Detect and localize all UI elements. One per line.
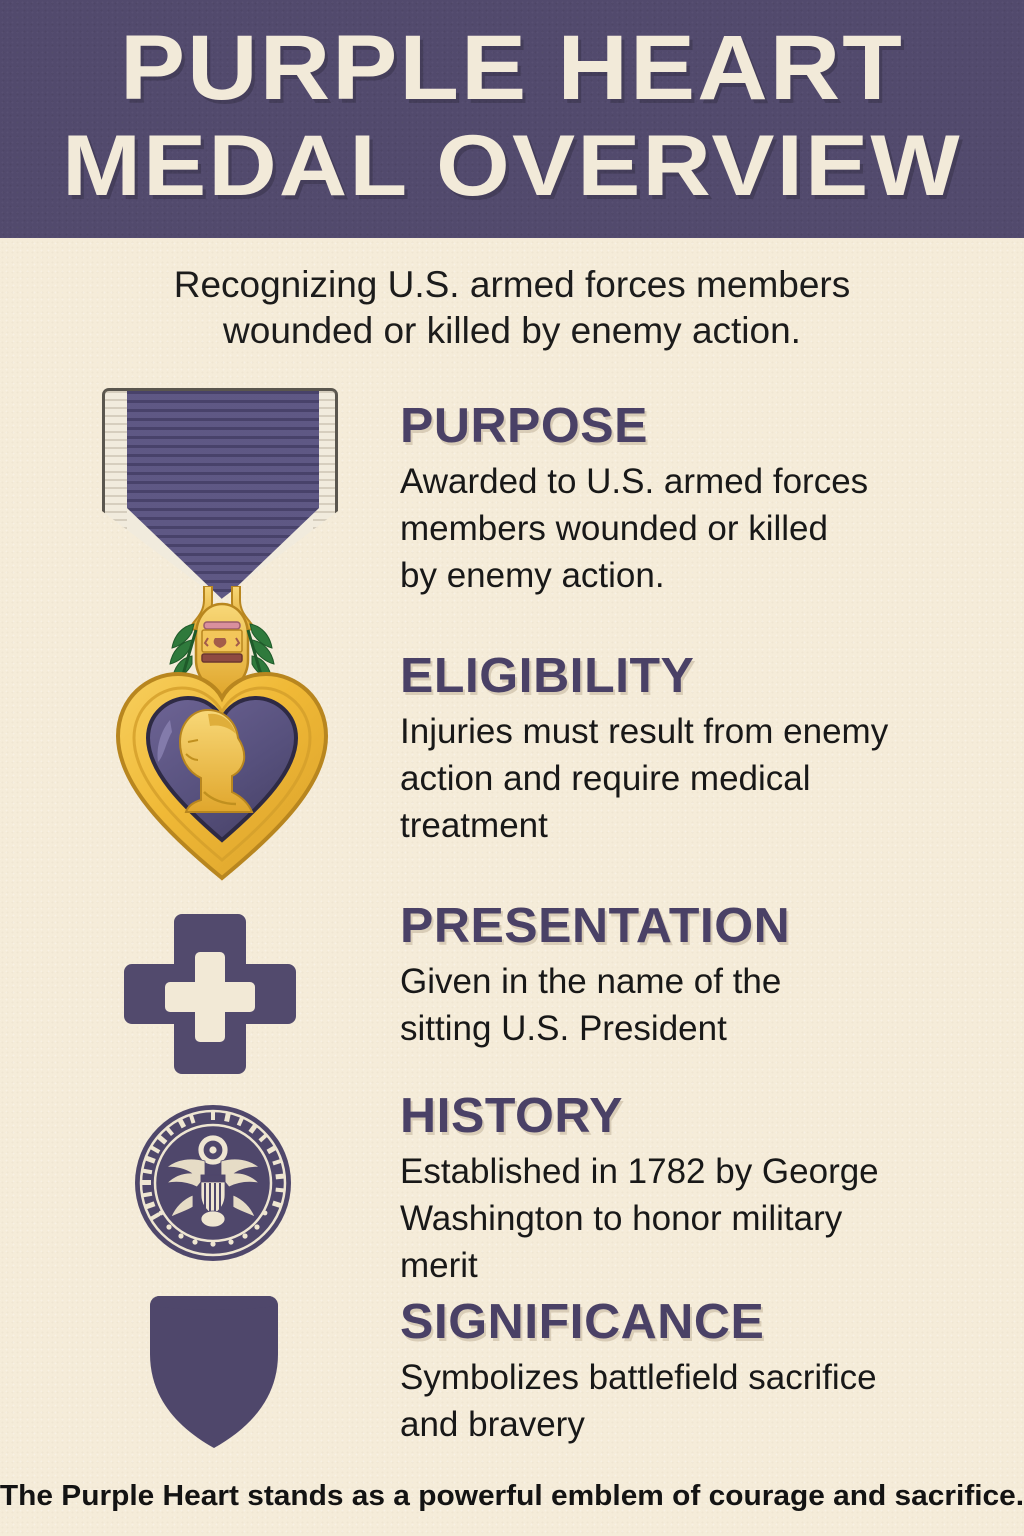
seal-svg [133, 1103, 293, 1263]
body-line: action and require medical [400, 755, 1000, 802]
cross-svg [120, 912, 300, 1082]
body-line: members wounded or killed [400, 505, 1000, 552]
section-body-history: Established in 1782 by George Washington… [400, 1148, 1000, 1289]
section-title-significance: SIGNIFICANCE [400, 1294, 1012, 1350]
section-title-presentation: PRESENTATION [400, 898, 1012, 954]
section-body-presentation: Given in the name of the sitting U.S. Pr… [400, 958, 1000, 1052]
body-line: Injuries must result from enemy [400, 708, 1000, 755]
section-title-purpose: PURPOSE [400, 398, 1012, 454]
purple-heart-ribbon-icon [102, 388, 338, 600]
section-body-eligibility: Injuries must result from enemy action a… [400, 708, 1000, 849]
ribbon-purple-field [127, 391, 319, 600]
section-body-significance: Symbolizes battlefield sacrifice and bra… [400, 1354, 1000, 1448]
body-line: sitting U.S. President [400, 1005, 1000, 1052]
body-line: and bravery [400, 1401, 1000, 1448]
body-line: Given in the name of the [400, 958, 1000, 1005]
section-eligibility: ELIGIBILITY Injuries must result from en… [400, 648, 1000, 849]
footer-tagline: The Purple Heart stands as a powerful em… [0, 1478, 1024, 1514]
body-line: Symbolizes battlefield sacrifice [400, 1354, 1000, 1401]
section-presentation: PRESENTATION Given in the name of the si… [400, 898, 1000, 1052]
body-line: treatment [400, 802, 1000, 849]
section-history: HISTORY Established in 1782 by George Wa… [400, 1088, 1000, 1289]
body-line: merit [400, 1242, 1000, 1289]
shield-svg [140, 1292, 288, 1452]
medical-cross-icon [120, 912, 300, 1082]
medal-svg [108, 586, 336, 886]
section-title-eligibility: ELIGIBILITY [400, 648, 1012, 704]
body-line: by enemy action. [400, 552, 1000, 599]
body-line: Awarded to U.S. armed forces [400, 458, 1000, 505]
body-line: Washington to honor military [400, 1195, 1000, 1242]
section-significance: SIGNIFICANCE Symbolizes battlefield sacr… [400, 1294, 1000, 1448]
purple-heart-medal-icon [108, 586, 336, 886]
infographic-page: PURPLE HEART MEDAL OVERVIEW Recognizing … [0, 0, 1024, 1536]
icon-column [0, 0, 392, 1536]
ribbon-body [102, 388, 338, 600]
ribbon-left-stripe [105, 391, 127, 600]
shield-icon [140, 1292, 288, 1452]
great-seal-icon [133, 1103, 293, 1263]
section-title-history: HISTORY [400, 1088, 1012, 1144]
section-body-purpose: Awarded to U.S. armed forces members wou… [400, 458, 1000, 599]
body-line: Established in 1782 by George [400, 1148, 1000, 1195]
section-purpose: PURPOSE Awarded to U.S. armed forces mem… [400, 398, 1000, 599]
